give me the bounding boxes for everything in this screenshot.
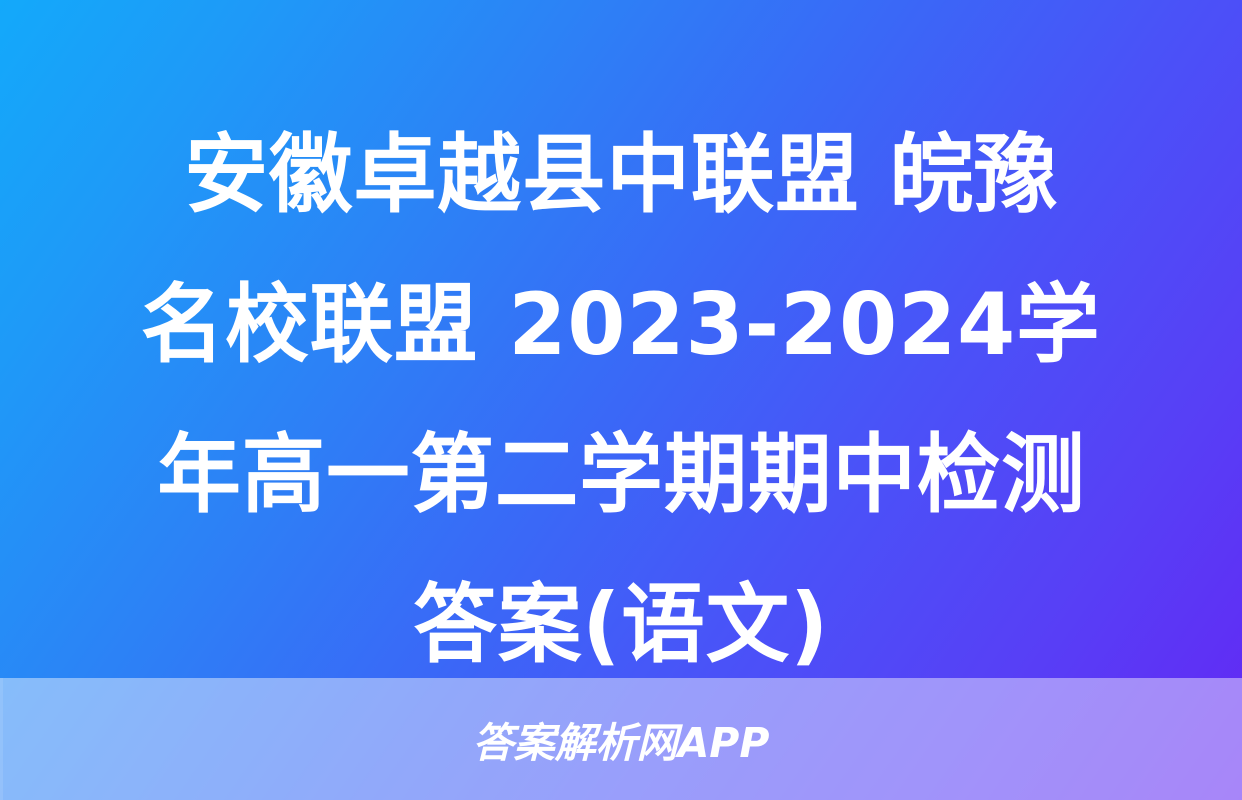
watermark-label: 答案解析网APP [473,709,770,769]
watermark-container: 答案解析网APP [0,678,1242,800]
title-block: 安徽卓越县中联盟 皖豫 名校联盟 2023-2024学 年高一第二学期期中检测 … [0,100,1242,680]
title-line-1: 安徽卓越县中联盟 皖豫 [184,100,1058,250]
title-line-2: 名校联盟 2023-2024学 [141,250,1101,400]
poster-screen: 安徽卓越县中联盟 皖豫 名校联盟 2023-2024学 年高一第二学期期中检测 … [0,0,1242,800]
title-line-3: 年高一第二学期期中检测 [157,400,1085,550]
